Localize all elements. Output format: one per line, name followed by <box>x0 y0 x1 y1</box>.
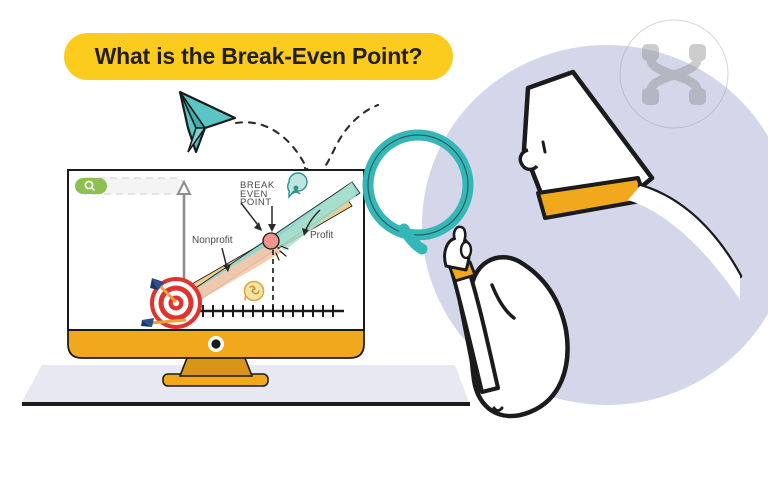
page-title: What is the Break-Even Point? <box>95 43 423 70</box>
watermark-logo: · · · · · · · · · · · · · · · · · · · · … <box>618 20 728 130</box>
illustration-canvas: BREAK EVEN POINT Profit Nonprofit <box>0 0 768 480</box>
page-title-banner: What is the Break-Even Point? <box>64 33 453 80</box>
